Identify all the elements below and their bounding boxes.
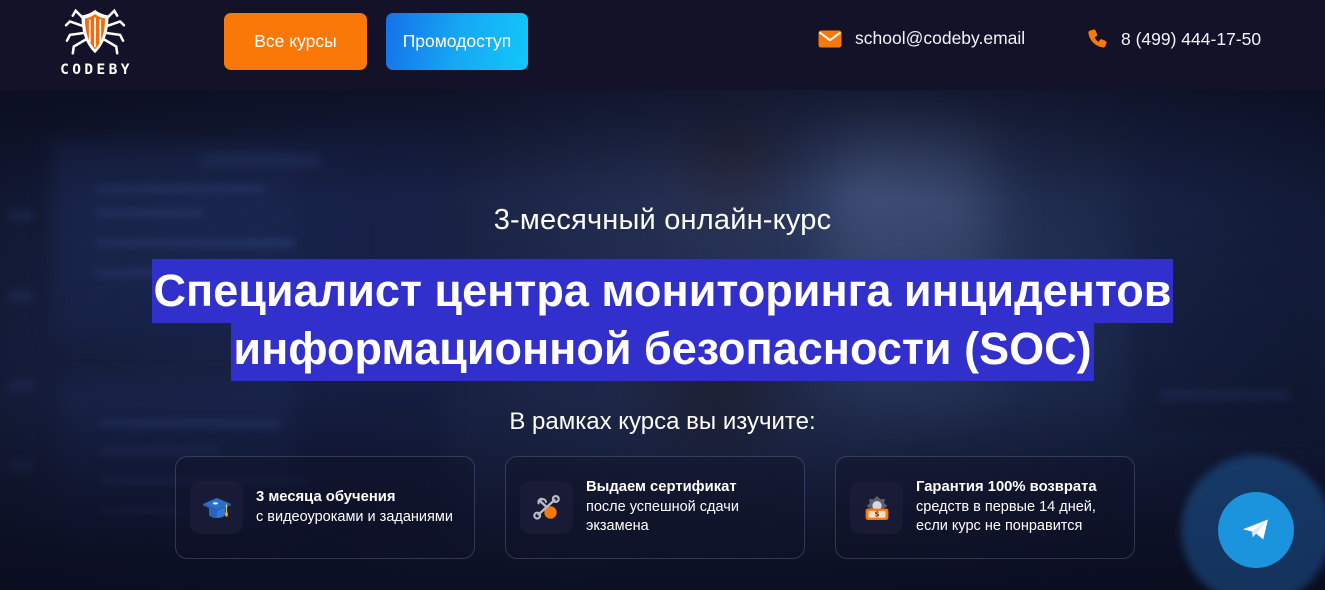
header-phone[interactable]: 8 (499) 444-17-50 bbox=[1086, 28, 1261, 50]
feature-card: $ Гарантия 100% возврата средств в первы… bbox=[835, 456, 1135, 559]
svg-text:$: $ bbox=[874, 509, 879, 518]
page-title-line-1: Специалист центра мониторинга инцидентов bbox=[152, 259, 1174, 323]
promo-access-button[interactable]: Промодоступ bbox=[386, 13, 528, 70]
graduation-cap-icon bbox=[190, 481, 243, 534]
telegram-floating-widget[interactable] bbox=[1181, 455, 1325, 590]
header-phone-text: 8 (499) 444-17-50 bbox=[1121, 29, 1261, 50]
header-email-text: school@codeby.email bbox=[855, 28, 1025, 49]
feature-card-title: 3 месяца обучения bbox=[256, 488, 453, 508]
feature-card-list: 3 месяца обучения с видеоуроками и задан… bbox=[175, 456, 1135, 559]
hero-content: 3-месячный онлайн-курс Специалист центра… bbox=[0, 90, 1325, 590]
all-courses-button[interactable]: Все курсы bbox=[224, 13, 367, 70]
feature-card-title: Выдаем сертификат bbox=[586, 478, 790, 498]
feature-card-text: 3 месяца обучения с видеоуроками и задан… bbox=[256, 488, 453, 527]
feature-card-title: Гарантия 100% возврата bbox=[916, 478, 1120, 498]
feature-card-desc: после успешной сдачи экзамена bbox=[586, 498, 790, 537]
envelope-icon bbox=[818, 30, 842, 48]
telegram-button[interactable] bbox=[1218, 492, 1294, 568]
page-root: 3-месячный онлайн-курс Специалист центра… bbox=[0, 0, 1325, 590]
hero-subtitle: В рамках курса вы изучите: bbox=[0, 408, 1325, 436]
certificate-ribbon-icon bbox=[520, 481, 573, 534]
hero-eyebrow: 3-месячный онлайн-курс bbox=[0, 204, 1325, 237]
feature-card-desc: средств в первые 14 дней, если курс не п… bbox=[916, 498, 1120, 537]
feature-card-desc: с видеоуроками и заданиями bbox=[256, 508, 453, 528]
logo-wordmark: CODEBY bbox=[57, 63, 133, 78]
money-back-icon: $ bbox=[850, 481, 903, 534]
site-header: CODEBY Все курсы Промодоступ school@code… bbox=[0, 0, 1325, 90]
logo[interactable]: CODEBY bbox=[50, 5, 140, 83]
feature-card-text: Гарантия 100% возврата средств в первые … bbox=[916, 478, 1120, 537]
feature-card: Выдаем сертификат после успешной сдачи э… bbox=[505, 456, 805, 559]
feature-card-text: Выдаем сертификат после успешной сдачи э… bbox=[586, 478, 790, 537]
spider-shield-logo-icon bbox=[64, 5, 126, 61]
page-title: Специалист центра мониторинга инцидентов… bbox=[0, 262, 1325, 378]
telegram-paper-plane-icon bbox=[1238, 512, 1274, 548]
header-email[interactable]: school@codeby.email bbox=[818, 28, 1025, 49]
phone-icon bbox=[1086, 28, 1108, 50]
feature-card: 3 месяца обучения с видеоуроками и задан… bbox=[175, 456, 475, 559]
page-title-line-2: информационной безопасности (SOC) bbox=[231, 317, 1093, 381]
